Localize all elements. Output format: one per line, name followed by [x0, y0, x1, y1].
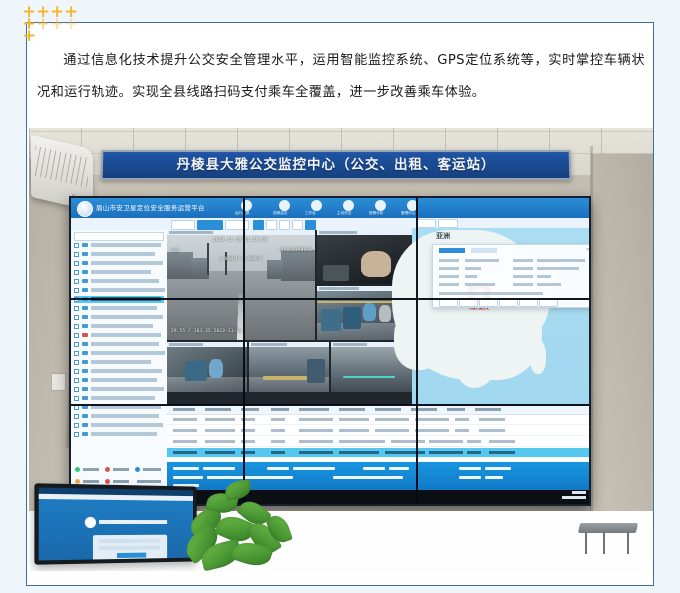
monitor-screen: [39, 488, 193, 561]
vehicle-icon: [82, 396, 88, 400]
plus-glyph-1: +: [22, 4, 36, 21]
nav-icon-1[interactable]: [279, 200, 290, 211]
room-banner-sign: 丹棱县大雅公交监控中心（公交、出租、客运站）: [101, 150, 572, 180]
camera-tile-title: 驾驶员监控: [319, 231, 357, 234]
table-cell: [479, 429, 505, 432]
body-paragraph: 通过信息化技术提升公交安全管理水平，运用智能监控系统、GPS定位系统等，实时掌控…: [37, 45, 645, 109]
toolbar-button-active[interactable]: [197, 220, 223, 230]
tree-row-label: [91, 333, 161, 337]
nav-icon-4[interactable]: [375, 200, 386, 211]
tree-row[interactable]: [74, 323, 164, 330]
login-form[interactable]: [93, 535, 167, 561]
nav-icon-3[interactable]: [343, 200, 354, 211]
taskbar-clock-date: [562, 496, 586, 499]
popup-field-value: [537, 283, 561, 286]
status-field-driver-value: [485, 476, 503, 479]
vehicle-data-table[interactable]: [167, 405, 589, 462]
tree-row[interactable]: [74, 305, 164, 312]
taskbar-clock: [562, 491, 586, 500]
tree-row[interactable]: [74, 314, 164, 321]
popup-field-label: [439, 283, 459, 286]
popup-field-value: [465, 259, 499, 262]
table-cell: [339, 429, 369, 432]
popup-action-listen[interactable]: [499, 299, 518, 307]
vehicle-icon: [82, 252, 88, 256]
door-step-edge: [263, 376, 307, 380]
tree-row[interactable]: [74, 395, 164, 402]
utility-pole: [225, 252, 227, 275]
table-header-cell: [475, 408, 501, 411]
tree-checkbox[interactable]: [74, 243, 79, 248]
camera-tile-title: 车厢中部: [169, 343, 203, 346]
table-cell: [299, 429, 333, 432]
tree-row[interactable]: [74, 260, 164, 267]
status-counter-total: [143, 468, 161, 471]
tree-checkbox[interactable]: [74, 351, 79, 356]
stool: [579, 523, 641, 553]
status-counter-parked: [113, 480, 129, 483]
tree-checkbox[interactable]: [74, 360, 79, 365]
popup-action-playback[interactable]: [459, 299, 478, 307]
table-cell: [205, 429, 235, 432]
tree-row[interactable]: [74, 413, 164, 420]
table-row[interactable]: [167, 426, 589, 436]
table-cell: [375, 418, 409, 421]
tree-row-label: [91, 414, 159, 418]
tree-row[interactable]: [74, 350, 164, 357]
table-row[interactable]: [167, 437, 589, 447]
table-header-cell: [205, 408, 231, 411]
right-wall: [591, 154, 653, 571]
table-cell: [375, 429, 409, 432]
popup-action-track[interactable]: [439, 299, 458, 307]
tree-row-label: [91, 369, 162, 373]
vehicle-icon: [82, 423, 88, 427]
camera-channel-label: CH1: [171, 249, 180, 254]
popup-field-value: [537, 275, 551, 278]
stool-leg: [585, 532, 587, 554]
table-header-cell: [411, 408, 437, 411]
tree-checkbox[interactable]: [74, 378, 79, 383]
status-field-plate-value: [203, 467, 235, 470]
table-cell: [415, 429, 449, 432]
passenger-figure: [363, 303, 376, 321]
table-row[interactable]: [167, 415, 589, 425]
table-cell: [429, 440, 463, 443]
browser-toolbar: [39, 494, 193, 501]
tree-row[interactable]: [74, 368, 164, 375]
videowall-seam: [71, 404, 589, 406]
table-cell: [299, 440, 333, 443]
popup-field-label: [513, 275, 533, 278]
table-header-cell: [299, 408, 329, 411]
popup-action-more[interactable]: [539, 299, 558, 307]
map-region-label: 亚洲: [436, 231, 450, 241]
tree-checkbox[interactable]: [74, 414, 79, 419]
table-header-cell: [447, 408, 465, 411]
tree-checkbox[interactable]: [74, 342, 79, 347]
videowall-seam: [416, 198, 418, 504]
vehicle-icon: [82, 315, 88, 319]
login-password-input[interactable]: [99, 546, 160, 551]
platform-header: 眉山市安卫星定位安全服务运营平台 运行大屏 视频监控 工作台 主动安全 报警分析…: [71, 198, 589, 218]
popup-field-value: [537, 259, 585, 262]
plus-glyph-2: +: [36, 4, 50, 21]
toolbar-button-7[interactable]: [305, 220, 316, 230]
tree-checkbox[interactable]: [74, 270, 79, 275]
tree-row-label: [91, 243, 161, 247]
desktop-monitor[interactable]: [34, 483, 196, 564]
vehicle-tree-panel[interactable]: [71, 230, 168, 462]
login-username-input[interactable]: [99, 539, 160, 544]
vehicle-icon: [82, 243, 88, 247]
tree-row-label: [91, 387, 164, 391]
toolbar-button-6[interactable]: [292, 220, 303, 230]
table-cell: [467, 451, 481, 454]
vehicle-icon: [82, 324, 88, 328]
tree-row[interactable]: [74, 251, 164, 258]
nav-label-1: 视频监控: [273, 211, 287, 216]
vehicle-icon: [82, 270, 88, 274]
roadside-building: [267, 260, 283, 279]
table-cell: [339, 451, 379, 454]
camera-tile-title: 车厢前部: [319, 287, 359, 290]
table-cell: [271, 418, 285, 421]
camera-gps-overlay: 29.55 / 103.35 2023-11-29: [171, 329, 242, 334]
tree-row[interactable]: [74, 269, 164, 276]
camera-tile-title: 车门区域: [251, 343, 287, 346]
table-header-cell: [271, 408, 289, 411]
status-field-mileage-value: [485, 467, 511, 470]
platform-title: 眉山市安卫星定位安全服务运营平台: [96, 202, 205, 212]
popup-field-label: [513, 259, 533, 262]
table-header-row: [167, 406, 589, 415]
table-header-cell: [173, 408, 195, 411]
vehicle-icon: [82, 342, 88, 346]
vehicle-icon: [82, 360, 88, 364]
paragraph-text: 通过信息化技术提升公交安全管理水平，运用智能监控系统、GPS定位系统等，实时掌控…: [37, 53, 645, 100]
tree-row-label: [91, 342, 159, 346]
map-toolbar-button-0[interactable]: [416, 219, 436, 228]
camera-tile-title: 车外后视: [333, 343, 367, 346]
table-cell: [173, 429, 197, 432]
tree-row-label: [91, 432, 157, 436]
tree-row-label: [91, 360, 151, 364]
table-cell: [429, 451, 463, 454]
nav-icon-2[interactable]: [311, 200, 322, 211]
status-field-time: [267, 467, 289, 470]
tree-row[interactable]: [74, 242, 164, 249]
popup-field-value: [465, 267, 481, 270]
tree-checkbox[interactable]: [74, 423, 79, 428]
vehicle-icon: [82, 261, 88, 265]
vehicle-icon: [82, 369, 88, 373]
stool-leg: [627, 532, 629, 554]
passenger-figure: [209, 359, 223, 378]
rear-guide-line: [343, 376, 395, 378]
popup-tab-basic[interactable]: [439, 248, 465, 253]
map-toolbar-button-1[interactable]: [438, 219, 458, 228]
tree-row-label: [91, 396, 155, 400]
tree-row-alarm[interactable]: [74, 332, 164, 339]
tree-row[interactable]: [74, 278, 164, 285]
popup-field-value: [465, 275, 477, 278]
camera-speed-overlay: S:0KM/H P:0KM/H: [219, 257, 262, 262]
vehicle-icon: [82, 414, 88, 418]
status-field-time-value: [293, 467, 335, 470]
camera-timestamp: 2023-11-29 11:19:19: [213, 238, 267, 243]
status-field-speed: [363, 467, 385, 470]
document-page: + + + + + + + + + 通过信息化技术提升公交安全管理水平，运用智能…: [0, 0, 680, 593]
tree-row-label: [91, 288, 165, 292]
status-dot-online: [75, 467, 80, 472]
table-row-selected[interactable]: [167, 448, 589, 458]
stool-leg: [603, 532, 605, 554]
video-wall: 眉山市安卫星定位安全服务运营平台 运行大屏 视频监控 工作台 主动安全 报警分析…: [69, 196, 591, 506]
table-cell: [455, 429, 469, 432]
banner-text: 丹棱县大雅公交监控中心（公交、出租、客运站）: [103, 152, 570, 178]
status-counter-online: [83, 468, 99, 471]
tree-checkbox[interactable]: [74, 369, 79, 374]
table-cell: [489, 440, 515, 443]
table-cell: [467, 440, 481, 443]
login-submit-button[interactable]: [117, 553, 146, 558]
tree-checkbox[interactable]: [74, 396, 79, 401]
vehicle-icon: [82, 306, 88, 310]
vehicle-search-input[interactable]: [74, 232, 164, 241]
tree-checkbox[interactable]: [74, 324, 79, 329]
plant-leaf: [224, 479, 252, 500]
table-cell: [205, 418, 235, 421]
status-field-speed-value: [389, 467, 409, 470]
tree-checkbox[interactable]: [74, 306, 79, 311]
camera-video-door: [249, 347, 329, 392]
popup-field-label: [439, 275, 459, 278]
status-counter-alarm: [83, 480, 99, 483]
status-field-position: [333, 476, 403, 479]
taskbar-clock-time: [572, 491, 586, 494]
tree-row[interactable]: [74, 377, 164, 384]
table-cell: [299, 451, 333, 454]
passenger-figure: [361, 251, 391, 277]
popup-tab-alarm[interactable]: [471, 248, 497, 253]
tree-row-label: [91, 351, 165, 355]
table-cell: [415, 418, 449, 421]
status-field-plate: [173, 467, 199, 470]
seat: [323, 265, 349, 281]
vehicle-icon: [82, 378, 88, 382]
nav-label-3: 主动安全: [337, 211, 351, 216]
vehicle-icon: [82, 288, 88, 292]
table-cell: [455, 418, 469, 421]
camera-video-road: CH1 2023-11-29 11:19:19 川L02239000D S:0K…: [167, 235, 315, 340]
tree-row-label: [91, 378, 157, 382]
camera-tile-door[interactable]: 车门区域: [249, 342, 329, 392]
popup-close-icon[interactable]: ×: [586, 248, 589, 253]
plus-glyph-3: +: [50, 4, 64, 21]
table-cell: [173, 440, 197, 443]
landmass-philippines: [530, 340, 546, 374]
tree-row[interactable]: [74, 341, 164, 348]
vehicle-icon: [82, 279, 88, 283]
toolbar-button-2[interactable]: [225, 220, 249, 230]
roadside-building: [167, 252, 193, 279]
tree-row[interactable]: [74, 359, 164, 366]
tree-row[interactable]: [74, 431, 164, 438]
camera-tile-main[interactable]: CH1 2023-11-29 11:19:19 川L02239000D S:0K…: [167, 230, 315, 340]
nav-label-2: 工作台: [305, 211, 316, 216]
tree-checkbox[interactable]: [74, 252, 79, 257]
passenger-figure: [379, 305, 391, 322]
table-header-cell: [339, 408, 365, 411]
tree-row[interactable]: [74, 422, 164, 429]
popup-field-label: [439, 259, 459, 262]
camera-tile-cabin-left[interactable]: 车厢中部: [167, 342, 247, 392]
tree-checkbox[interactable]: [74, 432, 79, 437]
tree-row[interactable]: [74, 386, 164, 393]
bus-floor: [167, 377, 247, 392]
table-cell: [385, 451, 425, 454]
tree-row-label: [91, 306, 157, 310]
table-cell: [173, 451, 197, 454]
login-title: [99, 520, 167, 524]
seat: [185, 361, 207, 381]
tree-checkbox[interactable]: [74, 288, 79, 293]
status-counter-offline: [113, 468, 129, 471]
videowall-seam: [71, 298, 589, 300]
toolbar-button-0[interactable]: [171, 220, 195, 230]
table-cell: [339, 418, 369, 421]
utility-pole: [207, 243, 209, 275]
table-header-cell: [375, 408, 401, 411]
toolbar-button-5[interactable]: [279, 220, 290, 230]
control-room-photo: 丹棱县大雅公交监控中心（公交、出租、客运站） 眉山市安卫星定位安全服务运营平台 …: [29, 128, 653, 571]
login-logo-icon: [85, 517, 96, 528]
table-cell: [173, 418, 197, 421]
table-cell: [299, 418, 333, 421]
popup-field-value: [537, 267, 579, 270]
status-field-mileage: [459, 467, 481, 470]
tree-row-label: [91, 324, 153, 328]
status-dot-total: [135, 467, 140, 472]
videowall-seam: [243, 198, 245, 504]
tree-checkbox[interactable]: [74, 279, 79, 284]
table-cell: [339, 440, 385, 443]
table-cell: [271, 429, 285, 432]
tree-checkbox[interactable]: [74, 261, 79, 266]
popup-field-label: [439, 267, 459, 270]
status-dot-parked: [105, 479, 110, 484]
toolbar-button-3[interactable]: [253, 220, 264, 230]
tree-row[interactable]: [74, 287, 164, 294]
toolbar-button-4[interactable]: [266, 220, 277, 230]
content-card: 通过信息化技术提升公交安全管理水平，运用智能监控系统、GPS定位系统等，实时掌控…: [26, 22, 654, 586]
vehicle-icon: [82, 351, 88, 355]
tree-row-label: [91, 279, 159, 283]
table-cell: [205, 451, 235, 454]
table-cell: [489, 451, 515, 454]
popup-field-value: [465, 283, 495, 286]
seat: [321, 309, 341, 331]
table-cell: [205, 440, 235, 443]
power-socket-icon: [51, 373, 66, 391]
plus-glyph-4: +: [64, 4, 78, 21]
tree-checkbox[interactable]: [74, 333, 79, 338]
camera-device-id: 川L02239000D: [279, 247, 312, 253]
nav-label-5: 管理中心: [401, 211, 415, 216]
roadside-building: [281, 250, 315, 282]
table-cell: [271, 440, 285, 443]
status-counter-online-rate: [137, 480, 161, 483]
status-dot-offline: [105, 467, 110, 472]
office-plant: [177, 473, 307, 569]
camera-video-cabin-left: [167, 347, 247, 392]
seat: [307, 359, 325, 383]
status-field-driver: [459, 476, 481, 479]
popup-field-label: [513, 267, 533, 270]
video-wall-screen: 眉山市安卫星定位安全服务运营平台 运行大屏 视频监控 工作台 主动安全 报警分析…: [71, 198, 589, 504]
table-cell: [391, 440, 425, 443]
tree-row-label: [91, 270, 151, 274]
popup-field-location: [439, 292, 543, 295]
popup-action-photo[interactable]: [479, 299, 498, 307]
seat: [343, 307, 361, 329]
table-cell: [271, 451, 285, 454]
tree-checkbox[interactable]: [74, 315, 79, 320]
vehicle-icon: [82, 387, 88, 391]
nav-label-4: 报警分析: [369, 211, 383, 216]
popup-field-label: [513, 283, 533, 286]
tree-checkbox[interactable]: [74, 387, 79, 392]
landmass-indochina: [456, 336, 498, 388]
popup-action-send[interactable]: [519, 299, 538, 307]
tree-row-label: [91, 423, 163, 427]
camera-tile-title: [169, 231, 213, 234]
vehicle-icon: [82, 432, 88, 436]
tree-row-label: [91, 252, 155, 256]
vehicle-alarm-icon: [82, 333, 88, 337]
tree-row-label: [91, 315, 163, 319]
table-cell: [479, 418, 505, 421]
tree-row-label: [91, 261, 163, 265]
platform-logo-icon: [77, 201, 93, 217]
landmass-taiwan: [524, 318, 531, 332]
